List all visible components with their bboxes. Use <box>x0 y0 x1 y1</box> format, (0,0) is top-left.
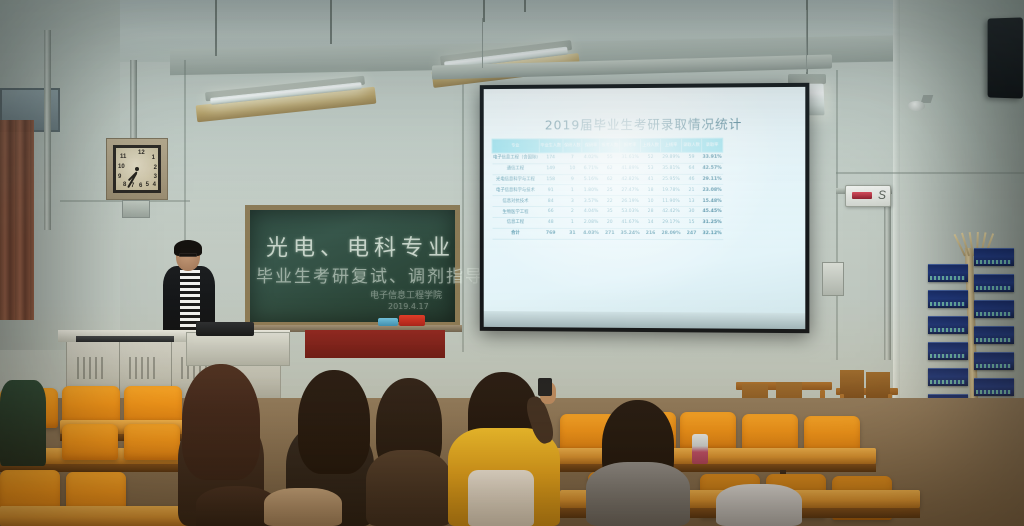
cell-applied: 271 <box>600 228 620 239</box>
wall-clock: 12 1 2 3 4 5 6 7 8 9 10 11 <box>106 138 168 200</box>
projection-screen: 2019届毕业生考研录取情况统计 专业 毕业生人数 保研人数 保研率 报考人数 … <box>480 83 810 333</box>
rack-card <box>928 342 968 360</box>
cell-applied-rate: 26.19% <box>620 196 641 207</box>
cell-graduates: 769 <box>539 228 563 239</box>
table-row: 信息对抗技术 84 3 3.57% 22 26.19% 10 11.90% 13… <box>492 196 723 207</box>
rack-card <box>974 274 1014 292</box>
wall-speaker <box>988 17 1023 98</box>
cell-applied: 62 <box>600 163 620 174</box>
projected-slide: 2019届毕业生考研录取情况统计 专业 毕业生人数 保研人数 保研率 报考人数 … <box>484 87 806 329</box>
col-recommend-rate: 保研率 <box>582 139 600 153</box>
cell-recommended: 7 <box>563 153 583 164</box>
cell-passed-rate: 11.90% <box>660 196 681 207</box>
wall-bracket <box>122 200 150 218</box>
cell-admitted: 46 <box>682 174 702 185</box>
col-applied-rate: 报考率 <box>620 139 641 153</box>
slide-title: 2019届毕业生考研录取情况统计 <box>484 113 806 134</box>
keyboard-tray <box>76 336 174 342</box>
col-passed: 上线人数 <box>641 138 661 152</box>
cell-major: 信息工程 <box>492 217 539 228</box>
cell-recommend-rate: 4.02% <box>582 152 600 163</box>
control-logo-icon: S <box>878 189 886 201</box>
cell-applied-rate: 27.47% <box>620 185 641 196</box>
cell-recommend-rate: 5.16% <box>582 174 600 185</box>
cell-passed-rate: 42.42% <box>660 207 681 218</box>
wall-seam <box>836 172 1024 174</box>
cell-admitted: 15 <box>682 218 702 229</box>
cell-major: 合计 <box>492 228 539 239</box>
col-applied: 报考人数 <box>600 139 620 153</box>
col-major: 专业 <box>492 139 539 153</box>
rack-card <box>974 378 1014 396</box>
blackboard-headline: 光电、电科专业 <box>266 230 455 262</box>
cell-passed: 216 <box>641 228 661 239</box>
classroom-photo: 12 1 2 3 4 5 6 7 8 9 10 11 光电、电科专业 毕业生考研… <box>0 0 1024 526</box>
blackboard-signature: 电子信息工程学院 <box>370 288 442 301</box>
blackboard-subline: 毕业生考研复试、调剂指导会 <box>256 262 503 287</box>
water-bottle <box>692 434 708 464</box>
cell-major: 通信工程 <box>492 163 539 174</box>
table-row: 电子信息科学与技术 91 1 1.80% 25 27.47% 18 19.78%… <box>492 185 723 196</box>
window-curtain <box>0 120 34 320</box>
col-admitted-rate: 录取率 <box>701 138 722 152</box>
phone <box>538 378 552 396</box>
cell-admitted-rate: 42.57% <box>701 163 722 174</box>
wall-pipe <box>884 190 891 360</box>
dome-security-camera <box>906 95 930 109</box>
col-recommended: 保研人数 <box>563 139 583 153</box>
wall-seam <box>462 66 464 352</box>
clock-face: 12 1 2 3 4 5 6 7 8 9 10 11 <box>113 145 161 193</box>
cell-admitted-rate: 33.91% <box>701 152 722 163</box>
wall-pipe <box>130 60 137 140</box>
table-row: 光电信息科学与工程 158 9 5.16% 62 42.82% 41 25.95… <box>492 174 723 185</box>
cell-admitted-rate: 31.25% <box>701 218 722 229</box>
cell-passed: 28 <box>641 207 661 218</box>
table-row: 通信工程 149 10 6.71% 62 41.89% 53 35.81% 64… <box>492 163 723 174</box>
screen-support-wire <box>806 10 807 72</box>
rack-card <box>974 300 1014 318</box>
cell-recommended: 10 <box>563 163 583 174</box>
cell-graduates: 174 <box>539 153 563 164</box>
table-row: 生物医学工程 66 2 4.04% 35 53.03% 28 42.42% 30… <box>492 207 723 218</box>
rack-card <box>974 248 1014 266</box>
table-total-row: 合计 769 31 4.03% 271 35.24% 216 28.09% 24… <box>492 228 723 239</box>
rack-card <box>928 264 968 282</box>
cell-graduates: 48 <box>539 218 563 229</box>
presenter-glasses <box>179 253 197 257</box>
table-row: 电子信息工程（含国际) 174 7 4.02% 55 31.61% 52 29.… <box>492 152 723 164</box>
cell-applied-rate: 35.24% <box>620 228 641 239</box>
cell-passed-rate: 28.09% <box>660 228 681 239</box>
cell-passed: 10 <box>641 196 661 207</box>
front-red-desk <box>305 330 445 358</box>
cell-passed-rate: 25.95% <box>660 174 681 185</box>
col-admitted: 录取人数 <box>682 138 702 152</box>
screen-support-wire <box>482 18 483 68</box>
cell-passed-rate: 29.89% <box>660 152 681 163</box>
red-box-on-tray <box>399 315 425 326</box>
table-row: 信息工程 48 1 2.08% 20 41.67% 14 29.17% 15 3… <box>492 217 723 228</box>
cell-admitted-rate: 32.12% <box>701 229 722 240</box>
rack-card <box>928 290 968 308</box>
blackboard: 光电、电科专业 毕业生考研复试、调剂指导会 电子信息工程学院 2019.4.17 <box>245 205 460 327</box>
control-led-display <box>852 192 872 199</box>
cell-recommended: 9 <box>563 174 583 185</box>
rack-card <box>974 352 1014 370</box>
cell-passed-rate: 19.78% <box>660 185 681 196</box>
blackboard-eraser <box>378 318 398 326</box>
cell-graduates: 91 <box>539 185 563 196</box>
cell-applied: 20 <box>600 218 620 229</box>
slide-table: 专业 毕业生人数 保研人数 保研率 报考人数 报考率 上线人数 上线率 录取人数… <box>492 138 724 240</box>
cell-recommended: 2 <box>563 207 583 218</box>
cell-admitted: 30 <box>682 207 702 218</box>
cell-graduates: 66 <box>539 207 563 218</box>
cell-applied: 55 <box>600 152 620 163</box>
col-graduates: 毕业生人数 <box>539 139 563 153</box>
cell-recommended: 3 <box>563 196 583 207</box>
cell-passed: 52 <box>641 152 661 163</box>
cell-graduates: 84 <box>539 196 563 207</box>
cell-recommended: 1 <box>563 185 583 196</box>
cell-admitted: 13 <box>682 196 702 207</box>
cell-passed: 18 <box>641 185 661 196</box>
cell-admitted-rate: 29.11% <box>701 174 722 185</box>
cell-admitted: 59 <box>682 152 702 163</box>
cell-applied-rate: 41.67% <box>620 218 641 229</box>
cell-passed-rate: 29.17% <box>660 218 681 229</box>
cell-passed: 41 <box>641 174 661 185</box>
blackboard-date: 2019.4.17 <box>388 302 429 311</box>
cell-applied-rate: 42.82% <box>620 174 641 185</box>
cell-major: 电子信息工程（含国际) <box>492 153 539 164</box>
cell-admitted-rate: 23.08% <box>701 185 722 196</box>
cell-recommend-rate: 2.08% <box>582 218 600 229</box>
cell-applied-rate: 31.61% <box>620 152 641 163</box>
slide-bottom-bar <box>484 311 806 329</box>
cell-applied: 35 <box>600 207 620 218</box>
cell-applied-rate: 41.89% <box>620 163 641 174</box>
cell-recommend-rate: 3.57% <box>582 196 600 207</box>
wall-pipe <box>44 30 51 230</box>
cell-applied: 62 <box>600 174 620 185</box>
cell-recommended: 1 <box>563 218 583 229</box>
cell-admitted-rate: 45.45% <box>701 207 722 218</box>
cell-recommended: 31 <box>563 228 583 239</box>
cell-applied: 22 <box>600 196 620 207</box>
cell-major: 电子信息科学与技术 <box>492 185 539 196</box>
col-passed-rate: 上线率 <box>660 138 681 152</box>
cell-admitted: 64 <box>682 163 702 174</box>
cell-applied-rate: 53.03% <box>620 207 641 218</box>
rack-card <box>974 326 1014 344</box>
cell-major: 生物医学工程 <box>492 207 539 218</box>
wall-control-panel[interactable]: S <box>845 185 891 207</box>
cell-recommend-rate: 4.03% <box>582 228 600 239</box>
wall-seam <box>836 70 838 360</box>
cell-recommend-rate: 1.80% <box>582 185 600 196</box>
cell-graduates: 149 <box>539 163 563 174</box>
back-chair <box>866 372 890 400</box>
cell-major: 光电信息科学与工程 <box>492 174 539 185</box>
rack-card <box>928 316 968 334</box>
rack-card <box>928 368 968 386</box>
podium-desk <box>186 332 290 366</box>
cell-passed: 53 <box>641 163 661 174</box>
projector-device <box>196 322 254 336</box>
cell-recommend-rate: 6.71% <box>582 163 600 174</box>
cell-recommend-rate: 4.04% <box>582 207 600 218</box>
cell-graduates: 158 <box>539 174 563 185</box>
cell-admitted: 247 <box>682 228 702 239</box>
cell-major: 信息对抗技术 <box>492 196 539 207</box>
cell-applied: 25 <box>600 185 620 196</box>
cell-passed: 14 <box>641 218 661 229</box>
table-header-row: 专业 毕业生人数 保研人数 保研率 报考人数 报考率 上线人数 上线率 录取人数… <box>492 138 723 153</box>
cell-admitted: 21 <box>682 185 702 196</box>
cell-passed-rate: 35.81% <box>660 163 681 174</box>
wall-access-panel <box>822 262 844 296</box>
cell-admitted-rate: 15.48% <box>701 196 722 207</box>
